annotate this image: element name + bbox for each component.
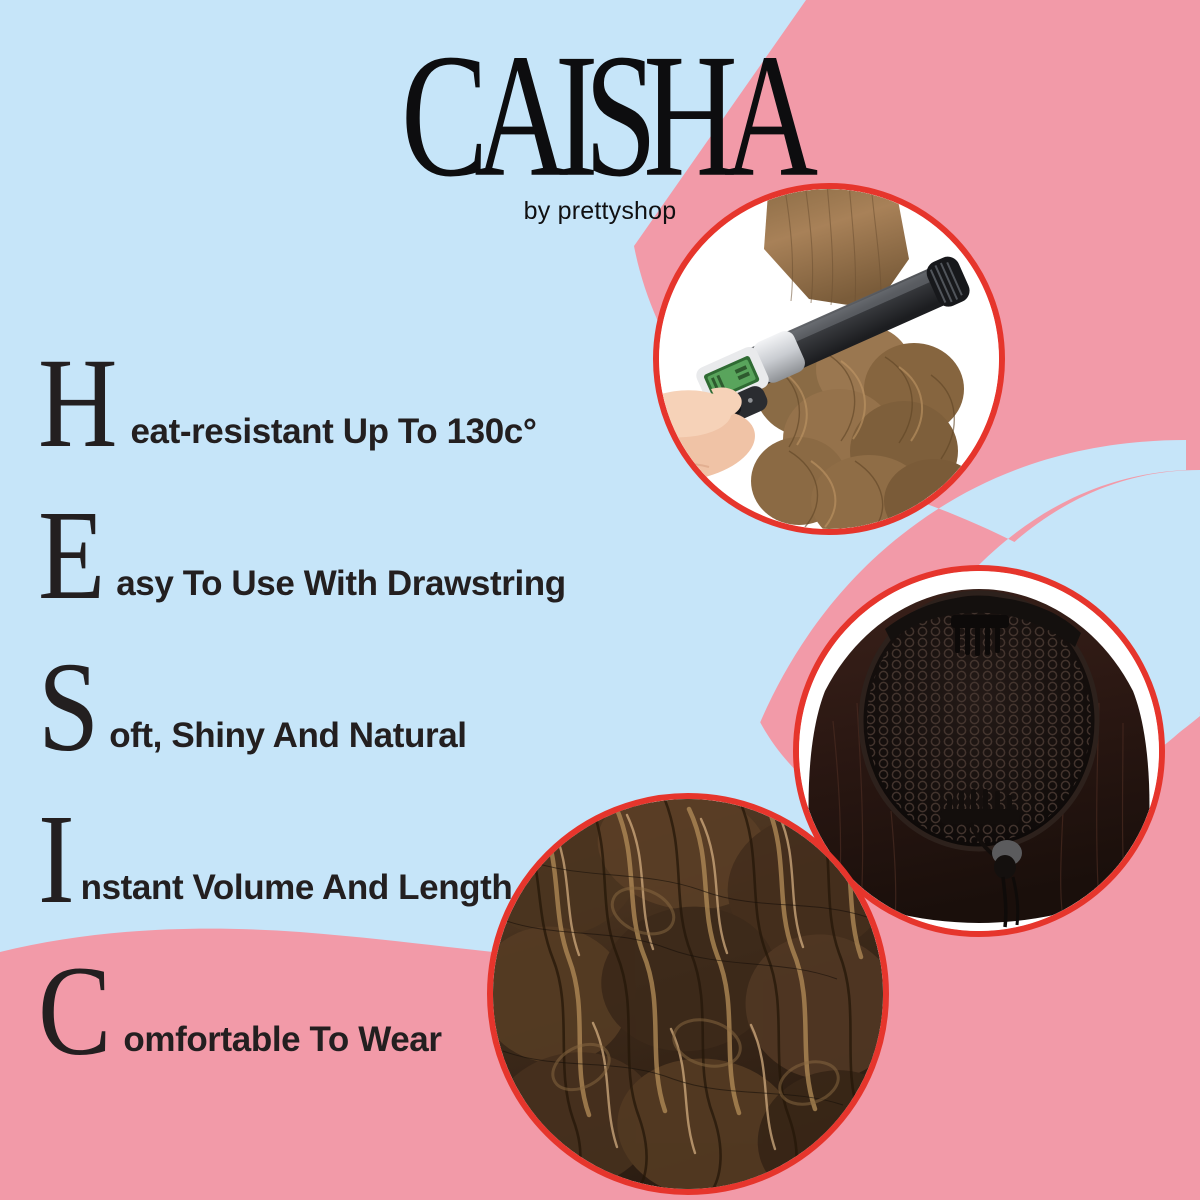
feature-label-comfortable: omfortable To Wear bbox=[123, 1022, 441, 1057]
feature-item-instant-volume: I nstant Volume And Length bbox=[38, 756, 658, 908]
feature-dropcap-i: I bbox=[38, 813, 75, 905]
feature-label-soft-shiny: oft, Shiny And Natural bbox=[109, 718, 466, 753]
feature-label-easy-to-use: asy To Use With Drawstring bbox=[116, 566, 566, 601]
feature-label-instant-volume: nstant Volume And Length bbox=[81, 870, 513, 905]
feature-list: H eat-resistant Up To 130c° E asy To Use… bbox=[38, 300, 658, 1060]
feature-item-soft-shiny: S oft, Shiny And Natural bbox=[38, 604, 658, 756]
feature-item-heat-resistant: H eat-resistant Up To 130c° bbox=[38, 300, 658, 452]
photo-flat-iron-styling bbox=[653, 183, 1005, 535]
feature-label-heat-resistant: eat-resistant Up To 130c° bbox=[130, 414, 536, 449]
feature-item-comfortable: C omfortable To Wear bbox=[38, 908, 658, 1060]
brand-logo: CAISHA by prettyshop bbox=[0, 26, 1200, 226]
feature-dropcap-e: E bbox=[38, 509, 105, 601]
feature-dropcap-s: S bbox=[38, 661, 99, 753]
feature-dropcap-h: H bbox=[38, 357, 117, 449]
brand-wordmark: CAISHA bbox=[395, 26, 804, 206]
product-infographic: CAISHA by prettyshop H eat-resistant Up … bbox=[0, 0, 1200, 1200]
feature-item-easy-to-use: E asy To Use With Drawstring bbox=[38, 452, 658, 604]
feature-dropcap-c: C bbox=[38, 965, 111, 1057]
